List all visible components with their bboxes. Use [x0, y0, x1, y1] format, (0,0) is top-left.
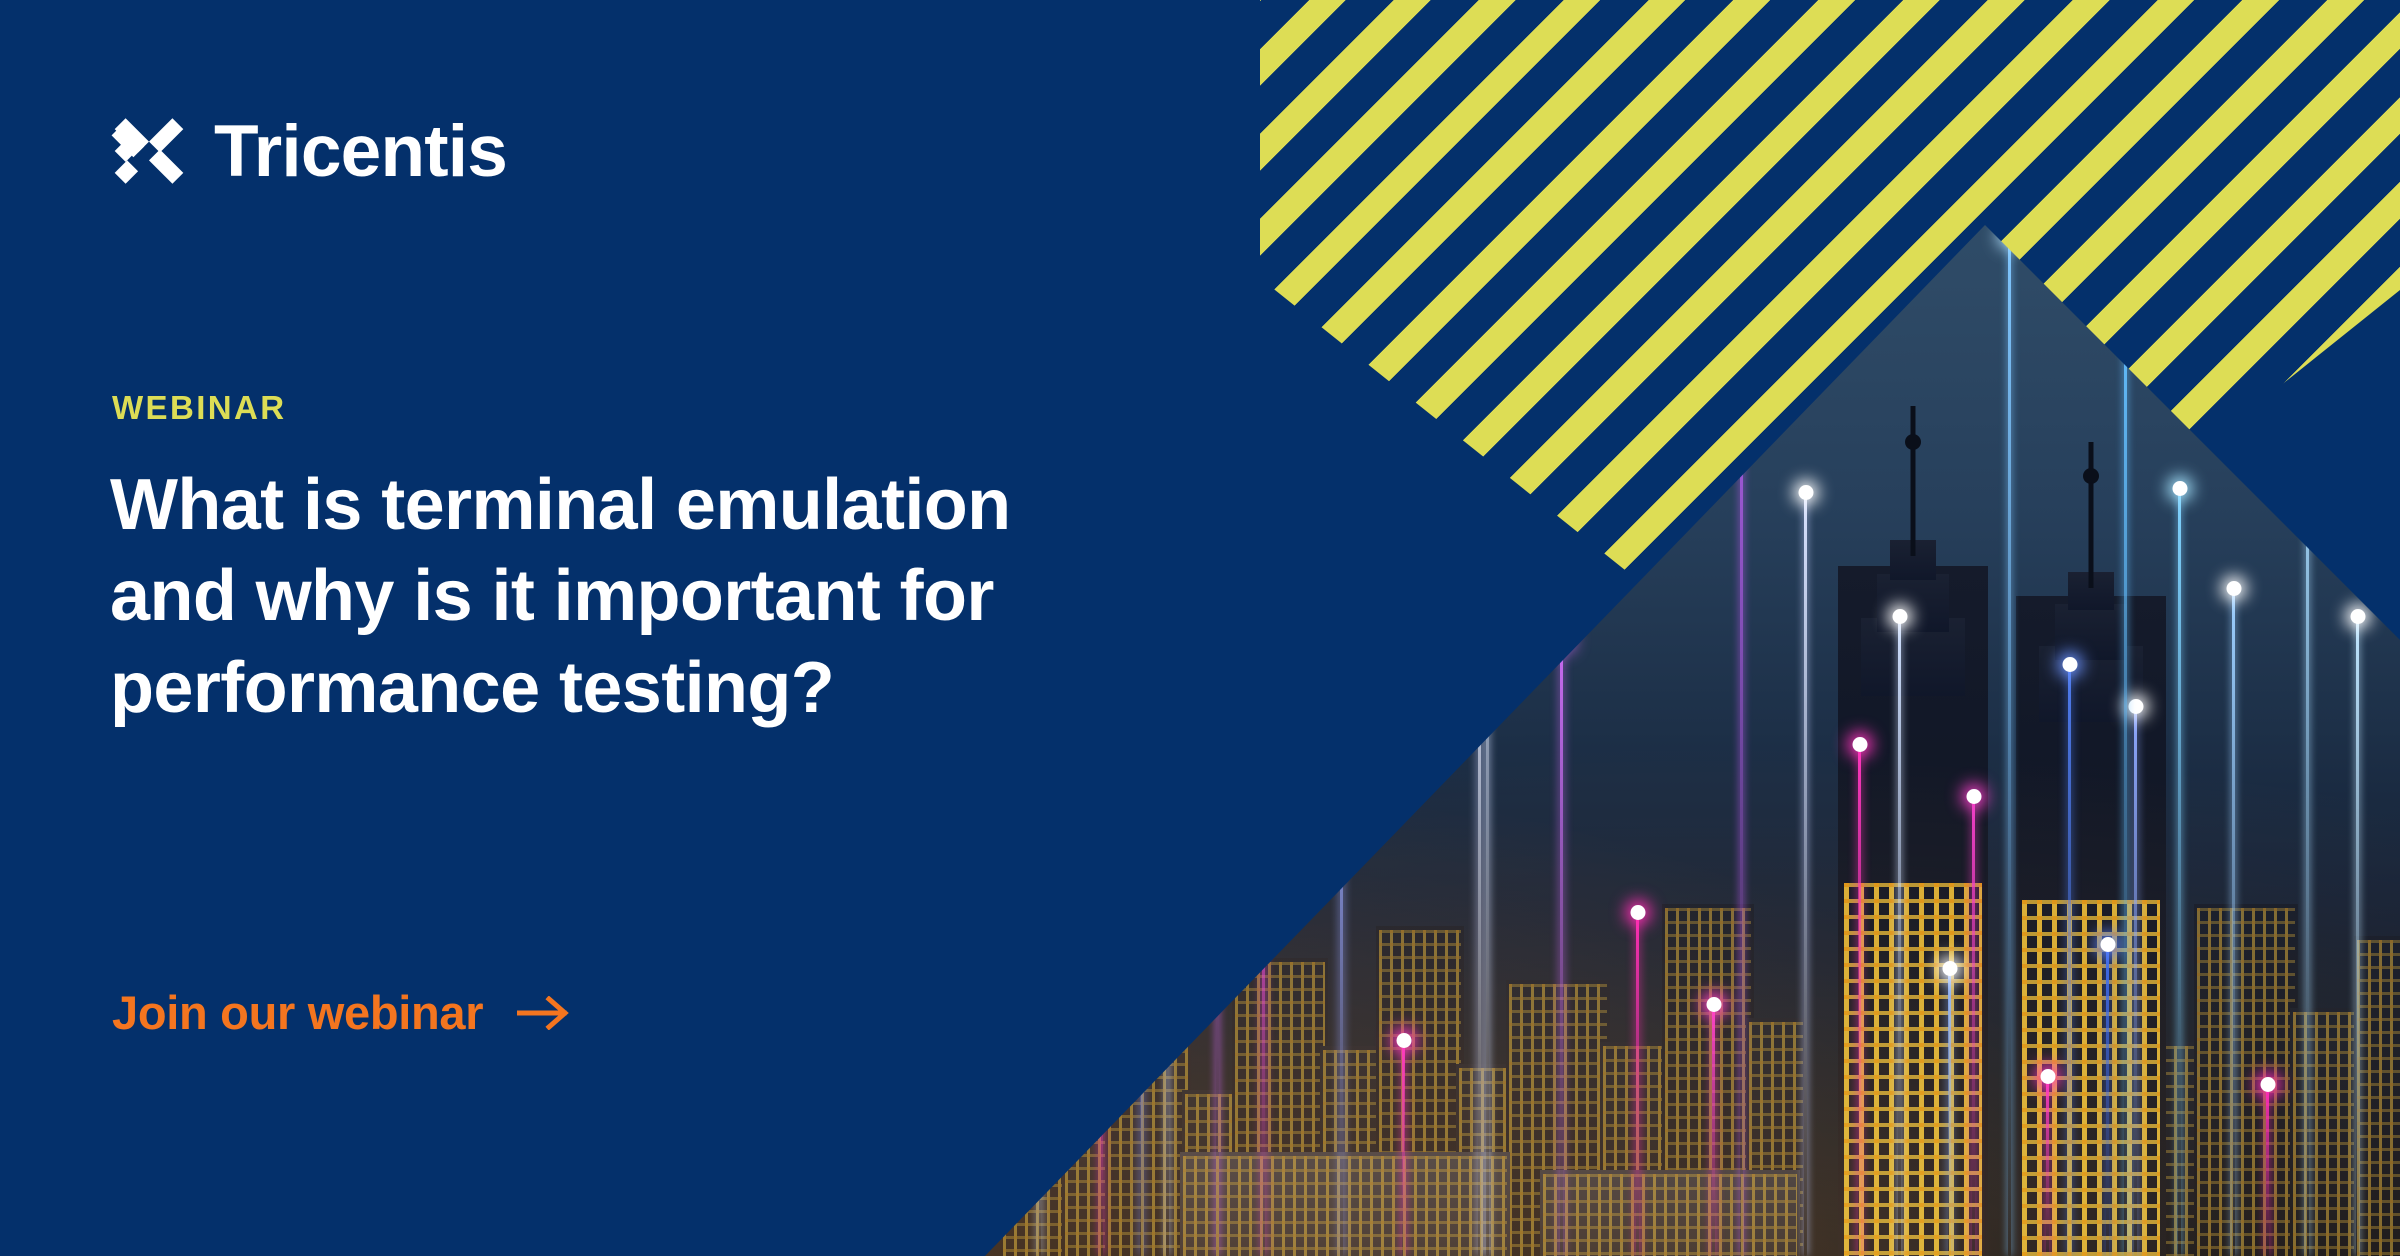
headline-line-2: and why is it important for	[110, 551, 1011, 642]
eyebrow-label: WEBINAR	[112, 389, 286, 427]
tricentis-wordmark: Tricentis	[214, 115, 507, 188]
diagonal-stripes-pattern-icon	[1260, 0, 2400, 740]
join-webinar-link[interactable]: Join our webinar	[112, 985, 569, 1040]
tricentis-x-mark-icon	[110, 112, 188, 190]
headline-line-1: What is terminal emulation	[110, 460, 1011, 551]
banner-content: Tricentis WEBINAR What is terminal emula…	[110, 0, 1260, 1256]
tricentis-logo[interactable]: Tricentis	[110, 112, 507, 190]
headline-line-3: performance testing?	[110, 643, 1011, 734]
webinar-promo-banner: Tricentis WEBINAR What is terminal emula…	[0, 0, 2400, 1256]
page-title: What is terminal emulation and why is it…	[110, 460, 1011, 734]
arrow-right-icon	[517, 996, 569, 1030]
join-webinar-label: Join our webinar	[112, 985, 483, 1040]
